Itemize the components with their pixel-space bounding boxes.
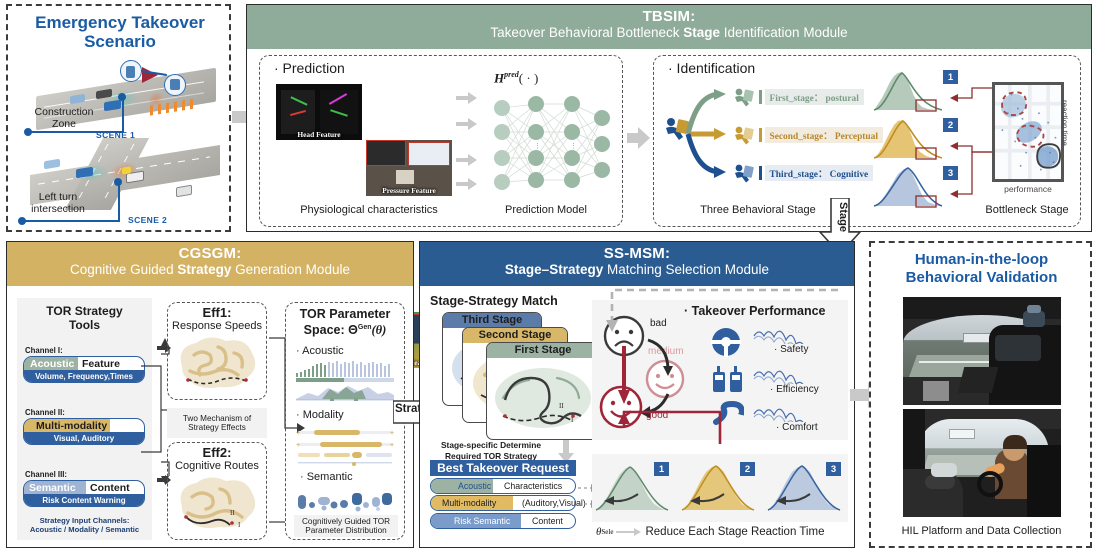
stage-reduction-distributions: 1 2 3: [592, 454, 848, 522]
arrow-prediction-to-identification: [627, 127, 651, 149]
arrow-right-icon: [616, 527, 642, 537]
waveform-comfort: [752, 400, 840, 422]
theta-sele-row: θSele Reduce Each Stage Reaction Time: [596, 526, 846, 538]
param-caption: Cognitively Guided TOR Parameter Distrib…: [294, 515, 398, 537]
construction-zone-label: Construction Zone: [26, 106, 102, 130]
hil-panel: Human-in-the-loop Behavioral Validation: [869, 241, 1092, 548]
channel-1-pill[interactable]: Acoustic Feature Volume, Frequency,Times: [23, 356, 145, 383]
tbsim-header: TBSIM: Takeover Behavioral Bottleneck St…: [247, 5, 1091, 49]
thumb-pressure-feature: Pressure Feature: [366, 140, 452, 196]
stage-strategy-match-title: Stage-Strategy Match: [430, 294, 558, 308]
thumb-label: Head Feature: [276, 130, 362, 139]
channel-3-label: Channel III:: [25, 470, 67, 479]
stage-card-label: First Stage: [487, 343, 599, 358]
scenario-title: Emergency Takeover Scenario: [14, 13, 226, 51]
determine-note: Stage-specific Determine Required TOR St…: [430, 440, 552, 462]
scenario-title-line2: Scenario: [14, 32, 226, 51]
person-icon-third-stage: [732, 162, 756, 184]
channel-1-label: Channel I:: [25, 346, 63, 355]
stage-branch-arrows: [684, 76, 728, 180]
badge-dist-3: 3: [826, 462, 841, 476]
scatter-xlabel: performance: [992, 184, 1064, 194]
tbsim-title: TBSIM:: [247, 8, 1091, 25]
stage-input-dashed-line: [598, 288, 842, 338]
distribution-first-stage: [872, 70, 944, 112]
best-takeover-request: Best Takeover Request Acoustic Character…: [430, 460, 576, 529]
eff1-subtitle: Response Speeds: [168, 320, 266, 332]
scene2-tag: SCENE 2: [128, 215, 167, 225]
stage-card-label: Second Stage: [463, 328, 567, 343]
prediction-model-caption: Prediction Model: [476, 204, 616, 216]
channel-3-sub: Risk Content Warning: [24, 494, 144, 506]
ssmsm-subtitle: Stage–Strategy Matching Selection Module: [420, 262, 854, 278]
hil-title: Human-in-the-loop Behavioral Validation: [875, 251, 1088, 287]
scatter-ylabel: reaction time: [1060, 100, 1069, 146]
metric-safety: · Safety: [774, 344, 808, 355]
param-row-semantic: · Semantic: [300, 471, 353, 483]
tor-strategy-tools: TOR Strategy Tools Channel I: Acoustic F…: [17, 298, 152, 540]
cgsgm-panel: CGSGM: Cognitive Guided Strategy Generat…: [6, 241, 414, 548]
brain-icon-eff1: [172, 337, 264, 393]
bottleneck-stage-caption: Bottleneck Stage: [964, 204, 1090, 216]
semantic-distribution-viz: [294, 487, 398, 515]
tbsim-subtitle: Takeover Behavioral Bottleneck Stage Ide…: [247, 25, 1091, 41]
ssmsm-panel: SS-MSM: Stage–Strategy Matching Selectio…: [419, 241, 855, 548]
stage-card-label: Third Stage: [443, 313, 541, 328]
thumb-label: Pressure Feature: [366, 186, 452, 195]
prediction-arrows: [456, 90, 478, 200]
eff2-title: Eff2:: [168, 445, 266, 460]
btr-row-semantic[interactable]: Risk Semantic Content: [430, 513, 576, 529]
cgsgm-title: CGSGM:: [7, 245, 413, 262]
channel-2-sub: Visual, Auditory: [24, 432, 144, 444]
metric-efficiency: · Efficiency: [770, 384, 819, 395]
prediction-heading: · Prediction: [274, 60, 345, 76]
stage-row-first: First_stage： postural: [732, 86, 864, 108]
prediction-formula: Hpred( · ): [494, 70, 538, 86]
acoustic-distribution-viz: [294, 361, 398, 401]
badge-dist-2: 2: [740, 462, 755, 476]
channel-2-pill[interactable]: Multi-modality Visual, Auditory: [23, 418, 145, 445]
cgsgm-subtitle: Cognitive Guided Strategy Generation Mod…: [7, 262, 413, 278]
ssmsm-title: SS-MSM:: [420, 245, 854, 262]
waveform-efficiency: [752, 362, 840, 384]
distribution-third-stage: [872, 166, 944, 208]
cgsgm-header: CGSGM: Cognitive Guided Strategy Generat…: [7, 242, 413, 286]
hil-photo-exterior: [903, 297, 1061, 405]
svg-text:+: +: [296, 442, 300, 449]
svg-text:II: II: [230, 509, 235, 517]
hil-caption: HIL Platform and Data Collection: [875, 525, 1088, 537]
svg-text:II: II: [559, 402, 564, 410]
neural-network-diagram: ⋮⋮: [484, 92, 614, 197]
hil-photo-interior: [903, 409, 1061, 517]
channel-1-sub: Volume, Frequency,Times: [24, 370, 144, 382]
svg-text:⋮: ⋮: [570, 143, 577, 150]
svg-text:+: +: [390, 442, 394, 449]
param-row-acoustic: · Acoustic: [296, 345, 344, 357]
eff2-subtitle: Cognitive Routes: [168, 460, 266, 472]
metric-comfort: · Comfort: [776, 422, 818, 433]
badge-dist-1: 1: [654, 462, 669, 476]
bottleneck-connectors: [946, 80, 996, 210]
identification-box: · Identification: [653, 55, 1081, 227]
modality-distribution-viz: ++ ++: [294, 425, 398, 467]
left-turn-label: Left turn intersection: [22, 191, 94, 215]
eff2-box: Eff2: Cognitive Routes II I: [167, 442, 267, 540]
physiological-caption: Physiological characteristics: [268, 204, 470, 216]
scenario-title-line1: Emergency Takeover: [14, 13, 226, 32]
thumb-head-feature: Head Feature: [276, 84, 362, 140]
distribution-second-stage: [872, 118, 944, 160]
ssmsm-header: SS-MSM: Stage–Strategy Matching Selectio…: [420, 242, 854, 286]
svg-text:⋮: ⋮: [534, 143, 541, 150]
btr-title: Best Takeover Request: [430, 460, 576, 476]
tor-tools-title: TOR Strategy Tools: [17, 304, 152, 333]
scenario-panel: Emergency Takeover Scenario SCENE 1 Cons…: [6, 4, 231, 232]
channel-2-label: Channel II:: [25, 408, 65, 417]
channel-3-pill[interactable]: Semantic Content Risk Content Warning: [23, 480, 145, 507]
person-icon-first-stage: [732, 86, 756, 108]
btr-row-modality[interactable]: Multi-modality (Auditory,Visual): [430, 495, 576, 511]
svg-text:+: +: [296, 430, 300, 437]
tor-tools-footer: Strategy Input Channels: Acoustic / Moda…: [17, 516, 152, 535]
btr-row-acoustic[interactable]: Acoustic Characteristics: [430, 478, 576, 494]
prediction-box: · Prediction Head Feature Pressure Featu…: [259, 55, 623, 227]
stage-row-second: Second_stage： Perceptual: [732, 124, 883, 146]
param-row-modality: · Modality: [296, 409, 344, 421]
param-title: TOR Parameter Space: ΘGen(θ): [286, 307, 404, 338]
stage-arrow-label: Stage: [831, 202, 849, 232]
bottleneck-scatter-plot: [992, 82, 1064, 182]
tor-parameter-space-box: TOR Parameter Space: ΘGen(θ) · Acoustic: [285, 302, 405, 540]
eff1-title: Eff1:: [168, 305, 266, 320]
identification-heading: · Identification: [668, 60, 755, 76]
brain-icon-eff2: II I: [172, 477, 264, 533]
stage-row-third: Third_stage： Cognitive: [732, 162, 873, 184]
mechanism-note: Two Mechanism of Strategy Effects: [167, 408, 267, 438]
good-to-dist-connector: [610, 400, 730, 446]
tbsim-panel: TBSIM: Takeover Behavioral Bottleneck St…: [246, 4, 1092, 232]
eff1-box: Eff1: Response Speeds: [167, 302, 267, 400]
stage-card-first[interactable]: First Stage II I: [486, 342, 600, 440]
walkie-talkie-icon: [710, 364, 746, 394]
person-icon-second-stage: [732, 124, 756, 146]
